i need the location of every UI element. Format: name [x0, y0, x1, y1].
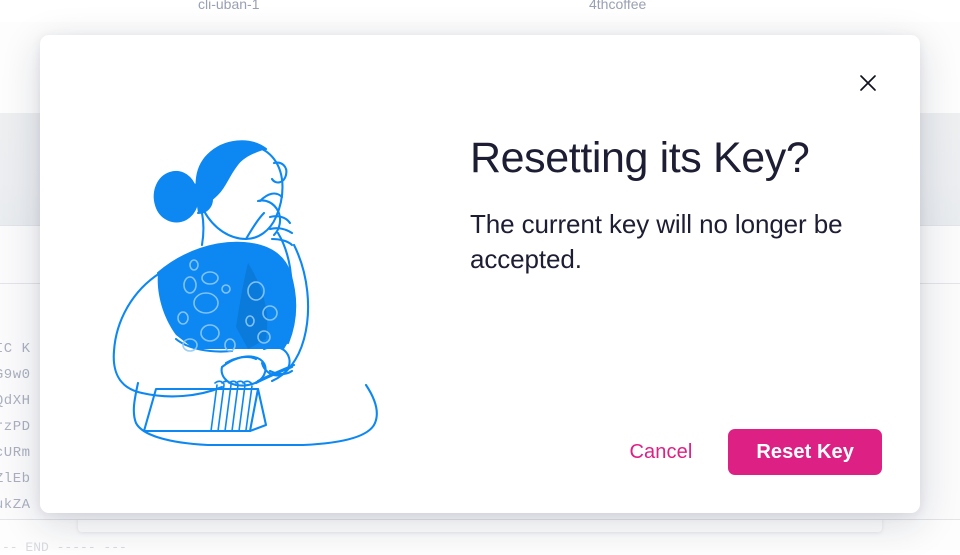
close-icon — [859, 74, 877, 92]
dialog-content-pane: Resetting its Key? The current key will … — [455, 35, 920, 513]
dialog-action-bar: Cancel Reset Key — [620, 429, 882, 475]
dialog-message: The current key will no longer be accept… — [470, 207, 880, 276]
background-column-label-4thcoffee: 4thcoffee — [589, 0, 646, 12]
dialog-body: Resetting its Key? The current key will … — [40, 35, 920, 513]
cancel-button[interactable]: Cancel — [620, 435, 703, 470]
background-column-header-row: cli-uban-1 4thcoffee — [0, 0, 960, 22]
background-divider-3 — [0, 519, 960, 520]
dialog-title: Resetting its Key? — [470, 135, 880, 181]
background-public-key-footer: -- END ----- --- — [2, 540, 127, 555]
close-dialog-button[interactable] — [850, 65, 886, 101]
dialog-illustration-pane — [40, 35, 455, 513]
background-column-label-cli-uban-1: cli-uban-1 — [198, 0, 259, 12]
background-public-key-text: LIC K iG9w0 bQdXH vrzPD QcURm kZlEb WukZ… — [0, 336, 31, 518]
thinking-person-illustration — [98, 113, 398, 453]
reset-key-button[interactable]: Reset Key — [728, 429, 882, 475]
reset-key-confirmation-dialog: Resetting its Key? The current key will … — [40, 35, 920, 513]
